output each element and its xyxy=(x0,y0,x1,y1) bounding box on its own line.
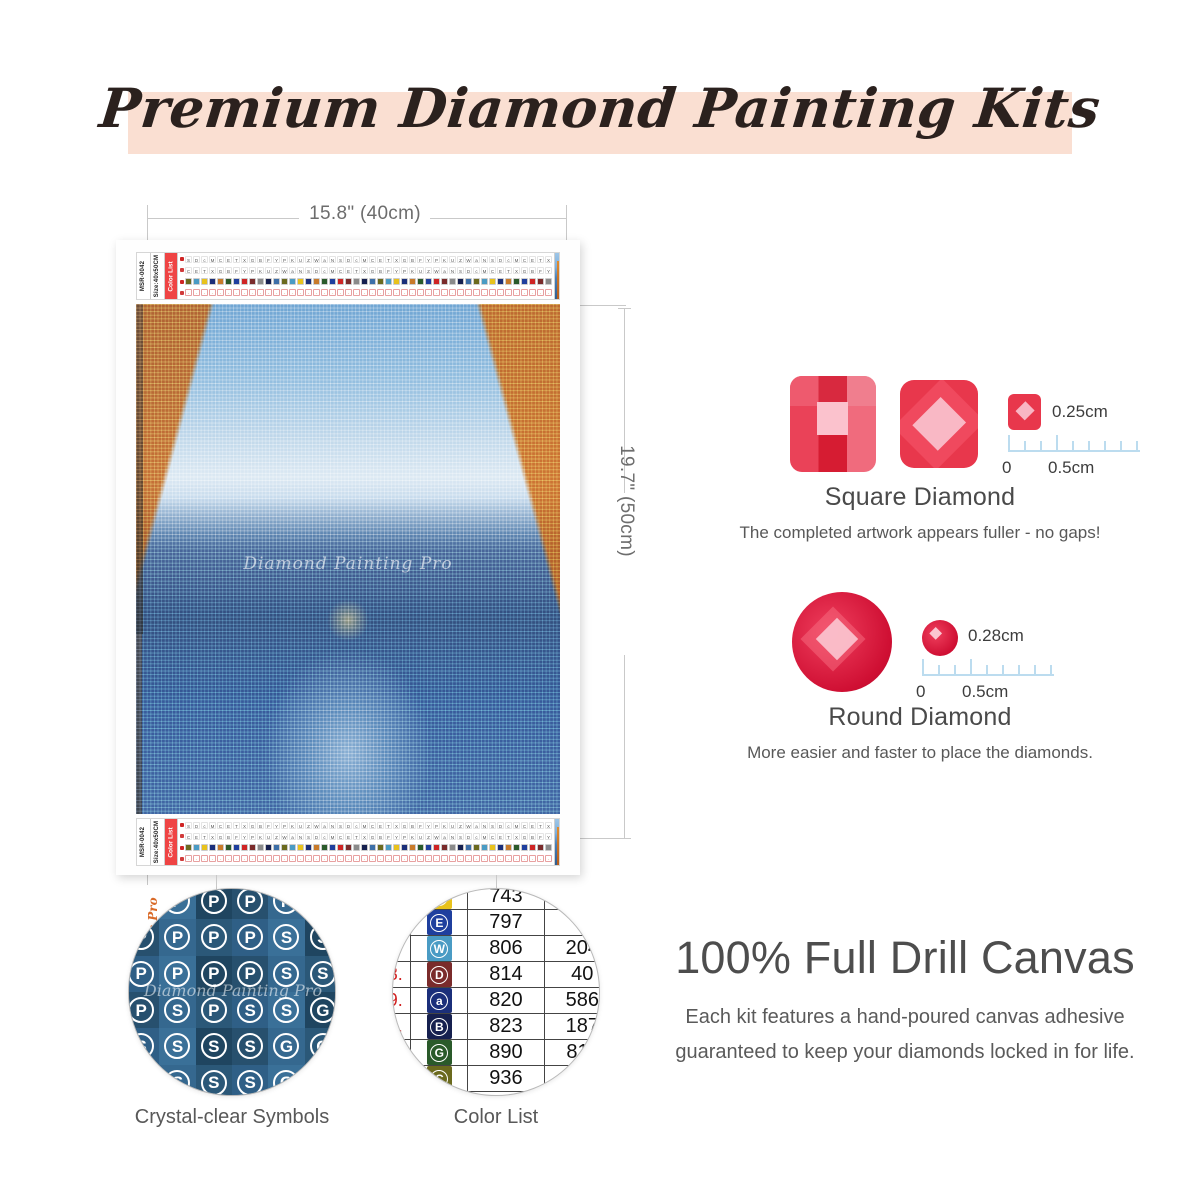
symbol-cell: P xyxy=(196,888,232,919)
strip-cell xyxy=(329,278,336,285)
strip-cell: S xyxy=(305,267,312,274)
strip-cell: W xyxy=(281,833,288,840)
strip-cell: - xyxy=(233,289,240,296)
strip-cell xyxy=(529,844,536,851)
strip-cell: - xyxy=(393,289,400,296)
color-list-index: 20. xyxy=(392,1014,411,1040)
color-list-count: 187 xyxy=(544,1014,600,1040)
strip-cell xyxy=(401,844,408,851)
strip-cell xyxy=(393,278,400,285)
strip-cell: - xyxy=(425,855,432,862)
strip-cell: T xyxy=(233,822,240,829)
strip-cell: K xyxy=(441,256,448,263)
strip-cell xyxy=(249,278,256,285)
strip-cell: - xyxy=(241,855,248,862)
symbol-cell: P xyxy=(159,888,195,919)
strip-cell: Y xyxy=(393,833,400,840)
caption-crystal-symbols: Crystal-clear Symbols xyxy=(108,1106,356,1129)
symbol-cell: S xyxy=(232,1065,268,1096)
symbol-cell: G xyxy=(305,1028,336,1064)
strip-cell: Z xyxy=(273,267,280,274)
strip-cell: - xyxy=(281,855,288,862)
strip-cell: Z xyxy=(457,822,464,829)
strip-cell: - xyxy=(449,289,456,296)
strip-row xyxy=(180,843,552,853)
strip-cell: - xyxy=(481,289,488,296)
strip-cell: - xyxy=(329,289,336,296)
strip-cell: c xyxy=(505,256,512,263)
strip-cell: C xyxy=(489,833,496,840)
strip-cell: K xyxy=(289,822,296,829)
strip-cell: P xyxy=(401,833,408,840)
strip-cell: - xyxy=(409,289,416,296)
color-list-row: 19.a820586 xyxy=(392,988,600,1014)
strip-cell xyxy=(449,844,456,851)
strip-cell xyxy=(489,278,496,285)
strip-cell: - xyxy=(425,289,432,296)
square-diamond-actual-size-icon xyxy=(1008,394,1041,430)
strip-cell xyxy=(185,278,192,285)
strip-cell: F xyxy=(417,256,424,263)
color-list-dmc-code: 814 xyxy=(468,962,544,988)
strip-cell: - xyxy=(409,855,416,862)
strip-cell: G xyxy=(521,267,528,274)
round-diamond-subtitle: More easier and faster to place the diam… xyxy=(660,743,1180,763)
strip-cell: a xyxy=(473,256,480,263)
strip-cell: - xyxy=(497,289,504,296)
strip-cell: B xyxy=(377,833,384,840)
color-list-index xyxy=(392,910,411,936)
color-list-count: 9 xyxy=(544,1066,600,1092)
strip-cell: - xyxy=(273,289,280,296)
round-size-label: 0.28cm xyxy=(968,626,1024,646)
strip-cell: U xyxy=(449,822,456,829)
strip-cell: X xyxy=(361,267,368,274)
symbol-cell: P xyxy=(305,888,336,919)
strip-cell: - xyxy=(473,855,480,862)
strip-cell xyxy=(193,278,200,285)
strip-cell: P xyxy=(249,267,256,274)
strip-cell: D xyxy=(465,267,472,274)
symbol-cell: P xyxy=(196,919,232,955)
strip-cell: U xyxy=(417,267,424,274)
strip-cell: - xyxy=(497,855,504,862)
strip-cell: B xyxy=(225,267,232,274)
round-diamond-large-icon xyxy=(792,592,892,692)
strip-cell: K xyxy=(289,256,296,263)
color-list-row: 7.W806204 xyxy=(392,936,600,962)
strip-symbol-rows: SDcMCETXGBFYPKUZWaNSDcMCETXGBFYPKUZWaNSD… xyxy=(178,253,554,299)
strip-size: Size:40x50CM xyxy=(151,253,165,299)
strip-cell: D xyxy=(345,256,352,263)
strip-cell: Y xyxy=(241,267,248,274)
strip-cell: F xyxy=(385,267,392,274)
strip-cell: M xyxy=(209,256,216,263)
strip-cell: - xyxy=(401,289,408,296)
strip-cell xyxy=(473,278,480,285)
round-diamond-title: Round Diamond xyxy=(660,703,1180,732)
strip-cell: - xyxy=(385,289,392,296)
strip-cell xyxy=(369,278,376,285)
strip-cell xyxy=(393,844,400,851)
strip-metadata-bottom: MSR-0042 Size:40x50CM Color List xyxy=(137,819,178,865)
strip-cell: G xyxy=(521,833,528,840)
strip-cell: - xyxy=(345,289,352,296)
strip-cell: D xyxy=(497,256,504,263)
strip-cell xyxy=(361,278,368,285)
strip-size-bottom: Size:40x50CM xyxy=(151,819,165,865)
strip-cell: - xyxy=(433,855,440,862)
color-list-count xyxy=(544,1092,600,1097)
strip-cell: - xyxy=(481,855,488,862)
strip-cell: S xyxy=(337,256,344,263)
strip-cell xyxy=(305,278,312,285)
strip-cell: M xyxy=(481,833,488,840)
strip-cell: - xyxy=(321,289,328,296)
strip-cell: - xyxy=(393,855,400,862)
strip-cell: - xyxy=(377,289,384,296)
strip-cell xyxy=(321,844,328,851)
strip-cell xyxy=(233,844,240,851)
strip-cell xyxy=(217,278,224,285)
artwork-watermark: Diamond Painting Pro xyxy=(136,554,560,574)
full-drill-line-1: Each kit features a hand-poured canvas a… xyxy=(620,1000,1190,1035)
strip-cell: c xyxy=(321,267,328,274)
strip-cell: - xyxy=(289,855,296,862)
strip-cell xyxy=(209,278,216,285)
color-list-index xyxy=(392,1066,411,1092)
strip-cell: S xyxy=(185,256,192,263)
strip-cell: E xyxy=(377,822,384,829)
strip-cell: P xyxy=(433,256,440,263)
strip-cell xyxy=(409,844,416,851)
strip-cell: - xyxy=(225,855,232,862)
color-list-symbol-chip: a xyxy=(411,988,468,1014)
strip-cell xyxy=(505,278,512,285)
strip-cell: c xyxy=(473,833,480,840)
strip-cell: - xyxy=(537,855,544,862)
strip-cell: - xyxy=(369,289,376,296)
strip-cell: F xyxy=(233,833,240,840)
strip-cell: c xyxy=(201,256,208,263)
strip-cell xyxy=(425,844,432,851)
strip-cell: T xyxy=(385,256,392,263)
strip-cell: - xyxy=(353,855,360,862)
color-list-symbol-chip: K xyxy=(411,1092,468,1097)
color-list-row: k743 xyxy=(392,888,600,910)
strip-cell xyxy=(353,278,360,285)
color-list-symbol-chip: k xyxy=(411,888,468,910)
strip-cell: N xyxy=(449,267,456,274)
color-list-index xyxy=(392,1092,411,1097)
strip-cell: K xyxy=(441,822,448,829)
strip-cell: T xyxy=(201,833,208,840)
strip-cell: - xyxy=(313,855,320,862)
symbol-cell: S xyxy=(159,1028,195,1064)
strip-cell: C xyxy=(521,822,528,829)
dimension-rule-right xyxy=(430,218,567,219)
strip-cell: Z xyxy=(425,833,432,840)
symbol-cell: S xyxy=(196,1065,232,1096)
strip-artwork-thumbnail xyxy=(554,253,560,299)
square-diamond-flat-icon xyxy=(790,376,876,472)
full-drill-title: 100% Full Drill Canvas xyxy=(620,932,1190,984)
strip-cell: W xyxy=(313,256,320,263)
strip-cell xyxy=(201,278,208,285)
strip-cell: P xyxy=(249,833,256,840)
strip-cell: - xyxy=(193,855,200,862)
strip-cell: - xyxy=(521,855,528,862)
strip-row: CETXGBFYPKUZWaNSDcMCETXGBFYPKUZWaNSDcMCE… xyxy=(180,831,552,841)
strip-cell: - xyxy=(345,855,352,862)
strip-cell xyxy=(241,278,248,285)
strip-cell xyxy=(545,278,552,285)
strip-cell: Z xyxy=(457,256,464,263)
strip-cell: Y xyxy=(393,267,400,274)
color-list-row: 18.D81440 xyxy=(392,962,600,988)
strip-cell xyxy=(537,844,544,851)
strip-cell: - xyxy=(313,289,320,296)
strip-cell: - xyxy=(377,855,384,862)
strip-cell: P xyxy=(281,256,288,263)
strip-cell: W xyxy=(465,256,472,263)
strip-cell: B xyxy=(257,822,264,829)
strip-cell: - xyxy=(329,855,336,862)
color-list-dmc-code: 797 xyxy=(468,910,544,936)
strip-cell xyxy=(385,844,392,851)
symbols-watermark: Diamond Painting Pro xyxy=(129,981,336,1000)
strip-cell: Y xyxy=(241,833,248,840)
strip-cell: T xyxy=(201,267,208,274)
strip-cell: E xyxy=(225,256,232,263)
strip-cell: - xyxy=(441,855,448,862)
color-list-symbol-chip: E xyxy=(411,910,468,936)
full-drill-line-2: guaranteed to keep your diamonds locked … xyxy=(620,1035,1190,1070)
strip-cell: - xyxy=(209,289,216,296)
strip-cell: - xyxy=(505,289,512,296)
strip-cell xyxy=(193,844,200,851)
symbol-cell: P xyxy=(128,888,159,919)
strip-cell: - xyxy=(233,855,240,862)
strip-cell xyxy=(433,278,440,285)
color-list-index: 19. xyxy=(392,988,411,1014)
strip-cell: - xyxy=(361,289,368,296)
strip-cell: G xyxy=(217,833,224,840)
color-list-symbol-chip: W xyxy=(411,936,468,962)
strip-cell: - xyxy=(257,855,264,862)
dimension-cap-left xyxy=(147,212,148,225)
strip-cell: - xyxy=(201,289,208,296)
strip-cell: T xyxy=(233,256,240,263)
infographic-page: Premium Diamond Painting Kits 15.8" (40c… xyxy=(0,0,1200,1200)
strip-cell: S xyxy=(457,833,464,840)
strip-cell: U xyxy=(265,267,272,274)
symbol-cell: S xyxy=(305,919,336,955)
strip-cell: C xyxy=(185,833,192,840)
strip-cell: - xyxy=(417,289,424,296)
strip-cell: a xyxy=(289,267,296,274)
strip-cell xyxy=(209,844,216,851)
strip-cell xyxy=(457,844,464,851)
symbol-cell: G xyxy=(305,1065,336,1096)
tree-trunk-left xyxy=(136,304,143,634)
color-list-row: E7974 xyxy=(392,910,600,936)
strip-cell: - xyxy=(489,289,496,296)
strip-cell: Y xyxy=(273,822,280,829)
strip-row: ----------------------------------------… xyxy=(180,288,552,298)
color-list-symbol-chip: B xyxy=(411,1014,468,1040)
strip-cell: C xyxy=(369,256,376,263)
strip-cell xyxy=(289,278,296,285)
square-ruler-zero: 0 xyxy=(1002,458,1011,478)
strip-cell: T xyxy=(385,822,392,829)
strip-cell: c xyxy=(353,256,360,263)
strip-cell xyxy=(329,844,336,851)
strip-cell: T xyxy=(537,256,544,263)
strip-cell: - xyxy=(257,289,264,296)
strip-cell: - xyxy=(401,855,408,862)
strip-cell: a xyxy=(473,822,480,829)
strip-cell: - xyxy=(185,855,192,862)
spec-round-diamond: 0.28cm 0 0.5cm Round Diamond More easier… xyxy=(660,588,1180,763)
strip-cell: B xyxy=(377,267,384,274)
strip-cell: - xyxy=(185,289,192,296)
color-list-count: 40 xyxy=(544,962,600,988)
strip-cell: c xyxy=(473,267,480,274)
strip-cell: N xyxy=(481,822,488,829)
strip-cell: - xyxy=(201,855,208,862)
strip-cell xyxy=(529,278,536,285)
canvas-height-label: 19.7" (50cm) xyxy=(615,441,637,561)
strip-cell: a xyxy=(321,256,328,263)
strip-cell xyxy=(521,844,528,851)
strip-cell: - xyxy=(505,855,512,862)
color-list-strip-bottom: MSR-0042 Size:40x50CM Color List SDcMCET… xyxy=(136,818,560,866)
color-list-dmc-code: 820 xyxy=(468,988,544,1014)
strip-cell xyxy=(313,844,320,851)
strip-cell: E xyxy=(345,833,352,840)
strip-cell xyxy=(305,844,312,851)
strip-cell xyxy=(337,844,344,851)
strip-cell: P xyxy=(433,822,440,829)
strip-cell: a xyxy=(441,833,448,840)
strip-cell xyxy=(521,278,528,285)
color-list-dmc-code: 823 xyxy=(468,1014,544,1040)
symbol-cell: S xyxy=(268,919,304,955)
strip-cell xyxy=(481,278,488,285)
strip-cell: K xyxy=(257,833,264,840)
square-diamond-faceted-icon xyxy=(900,380,978,468)
strip-cell: U xyxy=(449,256,456,263)
color-list-index: 7. xyxy=(392,936,411,962)
strip-cell: D xyxy=(313,833,320,840)
strip-cell xyxy=(425,278,432,285)
strip-cell: Y xyxy=(545,267,552,274)
strip-cell: F xyxy=(385,833,392,840)
strip-cell: T xyxy=(353,833,360,840)
strip-cell: - xyxy=(273,855,280,862)
strip-cell: E xyxy=(193,267,200,274)
strip-cell xyxy=(497,844,504,851)
strip-cell: - xyxy=(265,855,272,862)
strip-cell: X xyxy=(241,822,248,829)
strip-color-list-tag-bottom: Color List xyxy=(165,819,178,865)
strip-cell: G xyxy=(401,822,408,829)
strip-cell: - xyxy=(249,289,256,296)
strip-color-list-tag: Color List xyxy=(165,253,178,299)
strip-cell: S xyxy=(489,256,496,263)
color-list-table: k743E79747.W80620418.D8144019.a82058620.… xyxy=(392,888,600,1096)
caption-color-list: Color List xyxy=(392,1106,600,1129)
strip-cell xyxy=(297,844,304,851)
symbol-cell: P xyxy=(268,888,304,919)
strip-cell: Y xyxy=(273,256,280,263)
strip-cell: K xyxy=(257,267,264,274)
strip-cell: a xyxy=(441,267,448,274)
dimension-cap-top xyxy=(618,308,631,309)
strip-cell xyxy=(273,844,280,851)
strip-cell: a xyxy=(321,822,328,829)
strip-cell xyxy=(505,844,512,851)
strip-cell: X xyxy=(209,267,216,274)
canvas-width-label: 15.8" (40cm) xyxy=(290,203,440,225)
strip-cell: - xyxy=(513,855,520,862)
strip-cell xyxy=(361,844,368,851)
symbol-cell: P xyxy=(232,888,268,919)
page-title: Premium Diamond Painting Kits xyxy=(0,76,1200,140)
strip-cell: U xyxy=(297,256,304,263)
strip-symbol-rows-bottom: SDcMCETXGBFYPKUZWaNSDcMCETXGBFYPKUZWaNSD… xyxy=(178,819,554,865)
strip-cell: - xyxy=(441,289,448,296)
strip-cell xyxy=(449,278,456,285)
strip-cell xyxy=(241,844,248,851)
strip-cell: D xyxy=(465,833,472,840)
strip-cell: N xyxy=(297,267,304,274)
strip-cell xyxy=(385,278,392,285)
strip-cell: G xyxy=(249,256,256,263)
dimension-cap-right xyxy=(566,212,567,225)
strip-cell: - xyxy=(305,289,312,296)
color-list-symbol-chip: D xyxy=(411,962,468,988)
strip-cell: c xyxy=(201,822,208,829)
color-list-count: 4 xyxy=(544,910,600,936)
strip-cell: - xyxy=(489,855,496,862)
strip-cell xyxy=(441,278,448,285)
color-list-row: 1.G890811 xyxy=(392,1040,600,1066)
square-size-label: 0.25cm xyxy=(1052,402,1108,422)
strip-cell: - xyxy=(289,289,296,296)
strip-cell xyxy=(249,844,256,851)
strip-cell: D xyxy=(497,822,504,829)
strip-cell: S xyxy=(337,822,344,829)
strip-cell: X xyxy=(241,256,248,263)
color-list-row: 20.B823187 xyxy=(392,1014,600,1040)
strip-cell: M xyxy=(209,822,216,829)
strip-cell: C xyxy=(489,267,496,274)
strip-cell xyxy=(281,278,288,285)
strip-cell xyxy=(281,844,288,851)
symbol-cell: S xyxy=(159,1065,195,1096)
strip-cell: F xyxy=(417,822,424,829)
strip-cell: B xyxy=(529,833,536,840)
strip-cell xyxy=(457,278,464,285)
strip-cell: - xyxy=(385,855,392,862)
color-list-row: K947 xyxy=(392,1092,600,1097)
strip-cell: C xyxy=(521,256,528,263)
symbol-cell: S xyxy=(196,1028,232,1064)
strip-row: ----------------------------------------… xyxy=(180,854,552,864)
strip-cell: - xyxy=(529,289,536,296)
